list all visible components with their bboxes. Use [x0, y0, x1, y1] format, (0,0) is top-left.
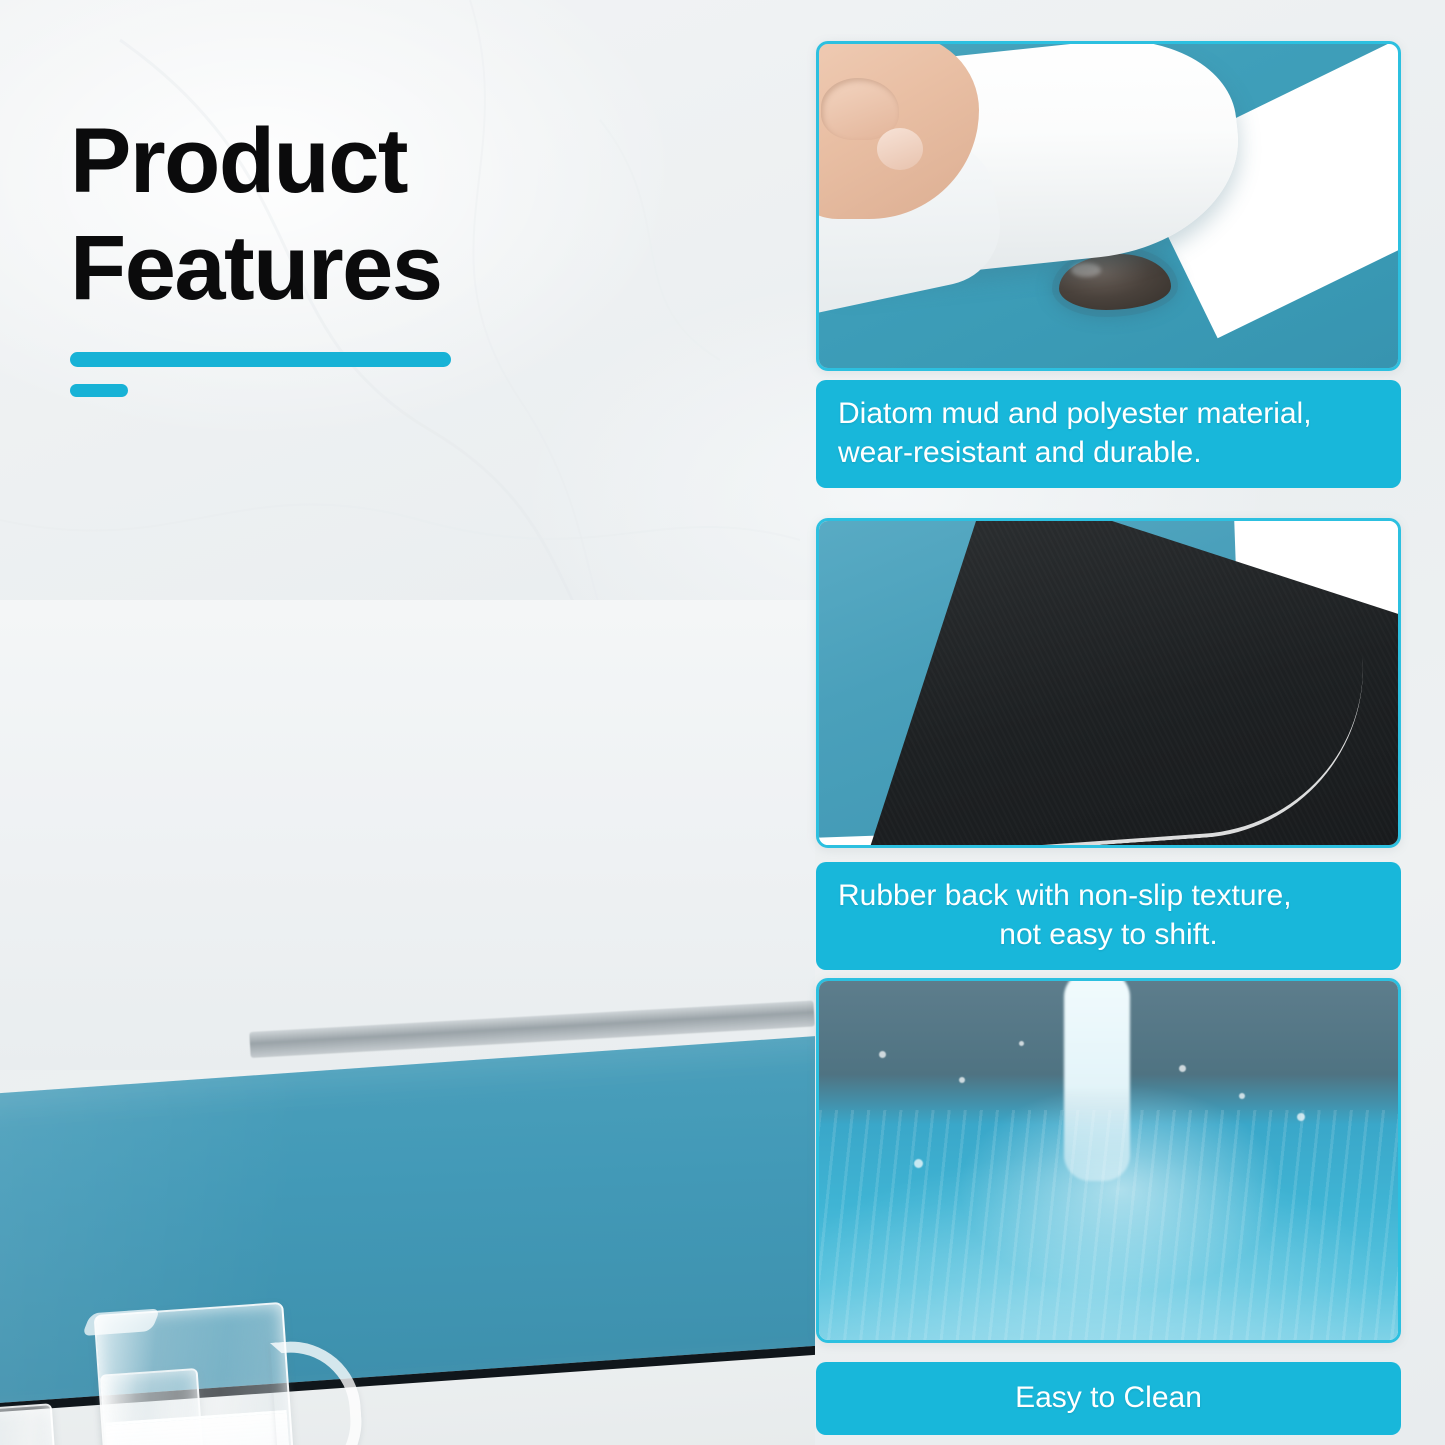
photo-water-rinsing-mat: [819, 981, 1398, 1340]
page-title-line-1: Product: [70, 108, 690, 215]
caption-line-2: wear-resistant and durable.: [838, 433, 1379, 472]
water-glass: [0, 1403, 69, 1445]
caption-line-1: Diatom mud and polyester material,: [838, 394, 1379, 433]
feature-caption-3: Easy to Clean: [816, 1362, 1401, 1435]
feature-photo-card-2: [816, 518, 1401, 848]
water-droplet: [1179, 1065, 1186, 1072]
water-droplet: [1239, 1093, 1245, 1099]
water-droplet: [879, 1051, 886, 1058]
photo-hand-peeling-cloth: [819, 44, 1398, 368]
caption-line-1: Easy to Clean: [838, 1378, 1379, 1417]
feature-caption-1: Diatom mud and polyester material, wear-…: [816, 380, 1401, 488]
photo-rubber-back: [819, 521, 1398, 845]
caption-line-1: Rubber back with non-slip texture,: [838, 876, 1379, 915]
title-underline-long: [70, 352, 451, 367]
water-droplet: [1297, 1113, 1305, 1121]
title-underline-short: [70, 384, 128, 397]
kitchen-wall: [0, 600, 815, 1070]
drying-mat: [0, 1032, 815, 1445]
feature-photo-card-3: [816, 978, 1401, 1343]
title-underline-group: [70, 352, 451, 397]
thumb: [821, 78, 899, 140]
page-title: Product Features: [70, 108, 690, 321]
water-droplet: [914, 1159, 923, 1168]
thumbnail: [877, 128, 923, 170]
caption-line-2: not easy to shift.: [838, 915, 1379, 954]
water-droplet: [1019, 1041, 1024, 1046]
page-title-line-2: Features: [70, 215, 690, 322]
water-streaks: [819, 1110, 1398, 1340]
water-droplet: [959, 1077, 965, 1083]
water-level: [105, 1410, 302, 1445]
feature-photo-card-1: [816, 41, 1401, 371]
lifestyle-photo-dish-drying-mat: [0, 600, 815, 1445]
feature-caption-2: Rubber back with non-slip texture, not e…: [816, 862, 1401, 970]
